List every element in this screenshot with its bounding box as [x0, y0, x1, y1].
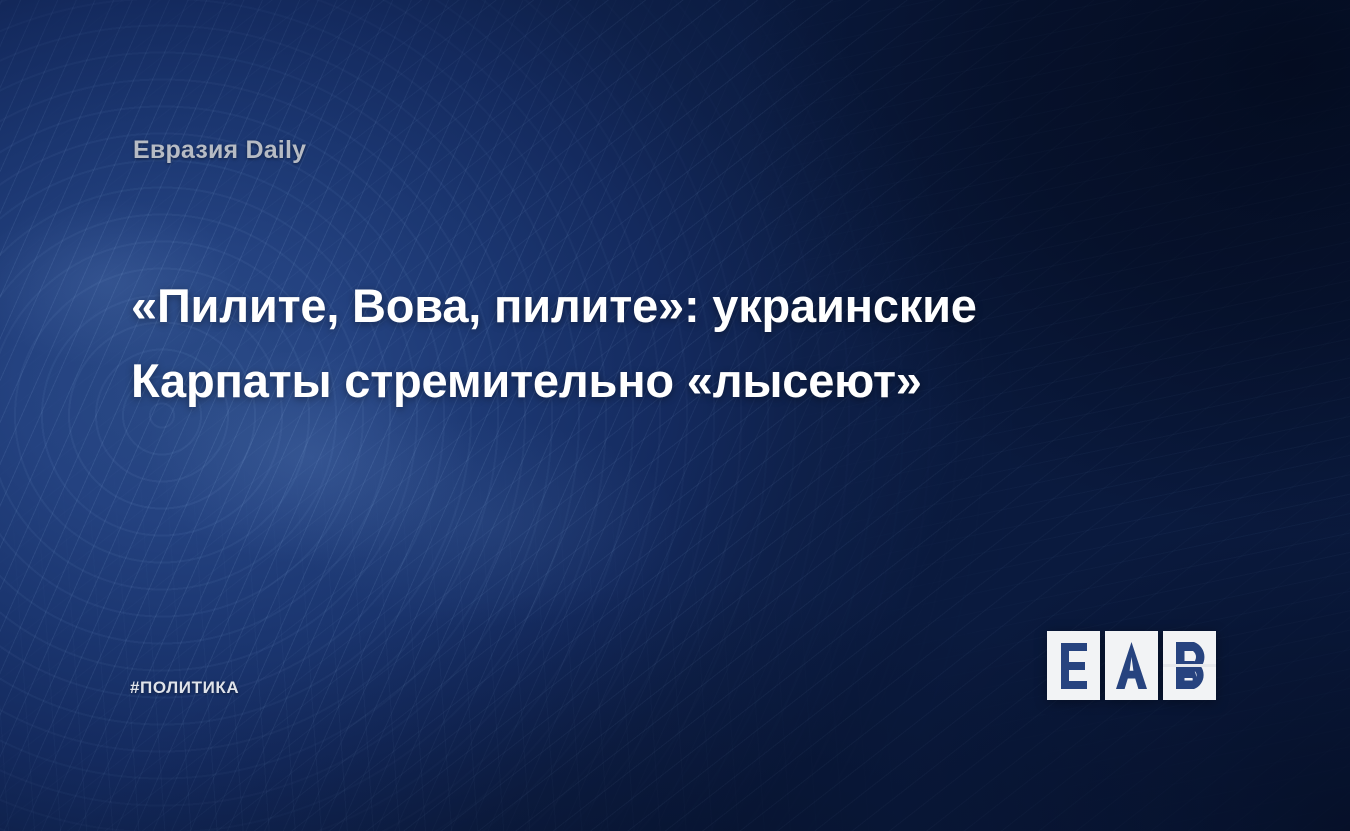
cover-content: Евразия Daily «Пилите, Вова, пилите»: ук…	[0, 0, 1350, 831]
headline-line-2: Карпаты стремительно «лысеют»	[131, 343, 1141, 418]
news-cover-card: Евразия Daily «Пилите, Вова, пилите»: ук…	[0, 0, 1350, 831]
logo-letter-d-split	[1163, 631, 1216, 700]
logo-letter-e	[1047, 631, 1100, 700]
logo-letter-a	[1105, 631, 1158, 700]
category-hashtag[interactable]: #ПОЛИТИКА	[130, 678, 239, 698]
eadaily-logo[interactable]	[1047, 631, 1216, 700]
brand-name: Евразия Daily	[133, 136, 306, 165]
headline-line-1: «Пилите, Вова, пилите»: украинские	[131, 268, 1141, 343]
headline: «Пилите, Вова, пилите»: украинские Карпа…	[131, 268, 1141, 418]
